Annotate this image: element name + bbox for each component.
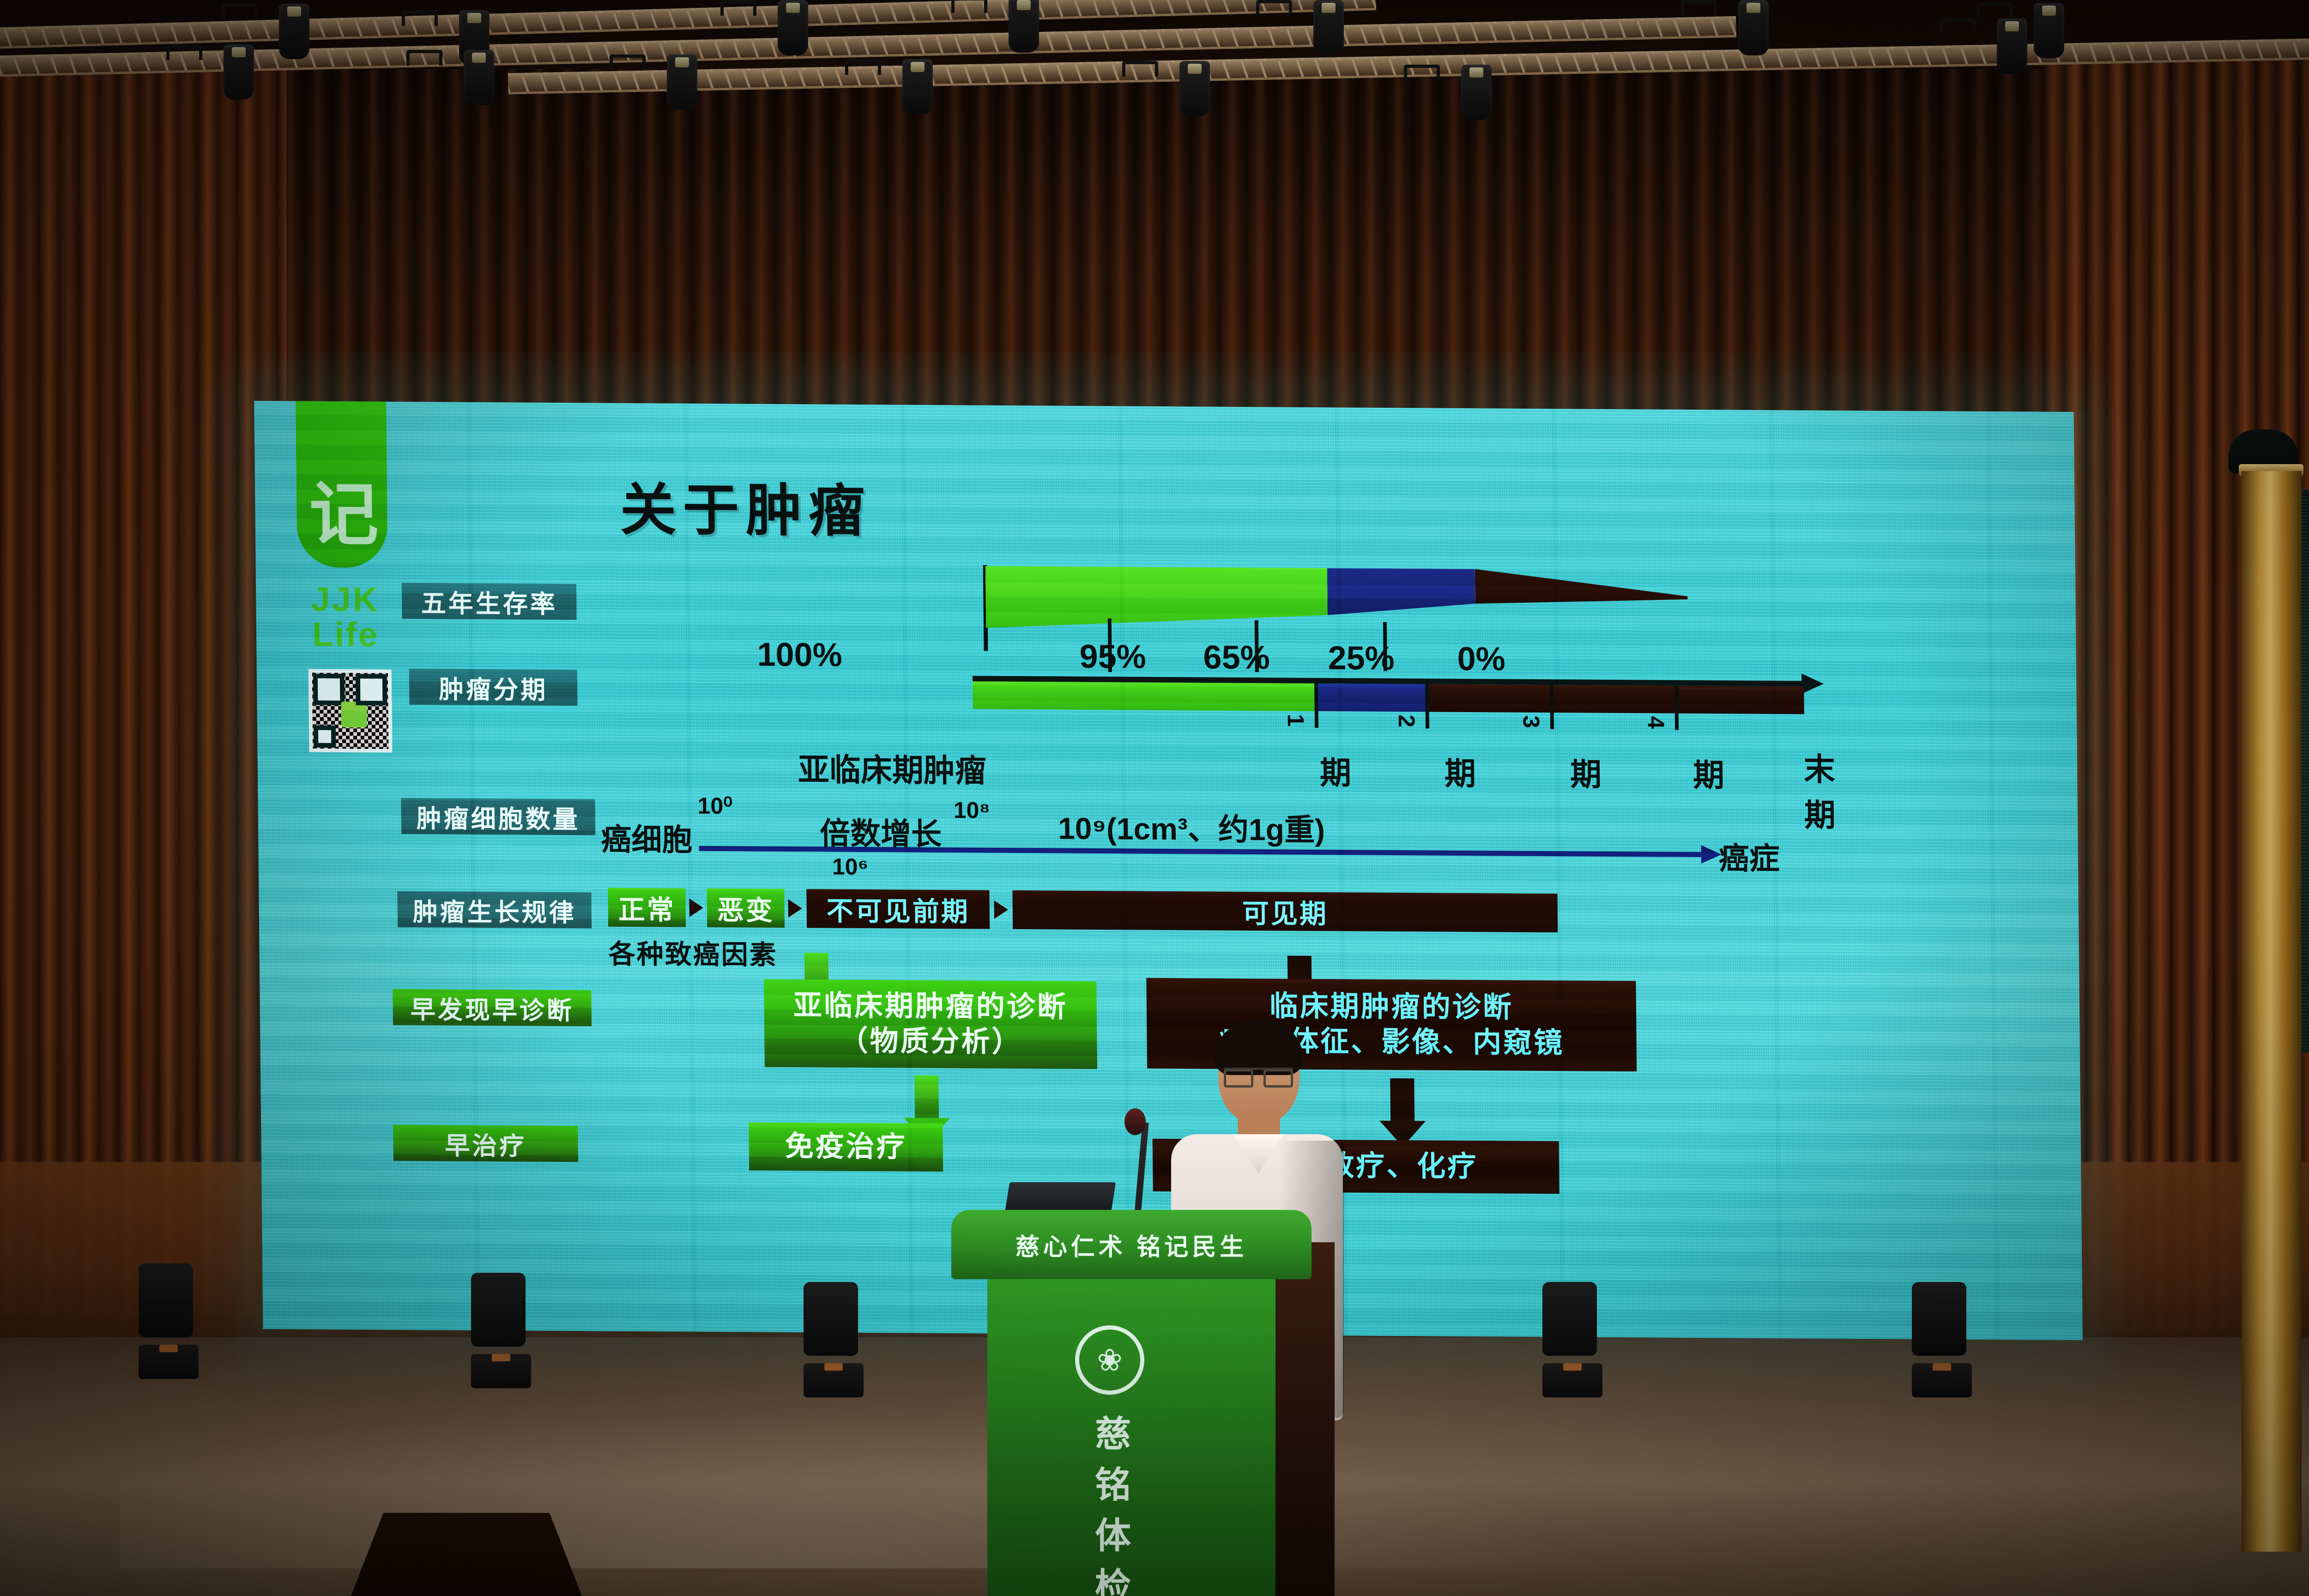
podium-logo-icon: ❀ (1075, 1325, 1144, 1395)
stage-light (166, 44, 202, 60)
growth-arrow-icon (788, 899, 802, 918)
stage-curtain-left (0, 69, 286, 1316)
stage-light (610, 54, 646, 70)
survival-percent: 100% (757, 636, 842, 674)
podium: 慈心仁术 铭记民生 ❀ 慈铭体检 (951, 1210, 1312, 1596)
moving-head-light (1912, 1282, 1972, 1397)
stage-light (222, 4, 258, 19)
auditorium-background: 记 JJK Life 关于肿瘤 五年生存率 (0, 0, 2309, 1596)
staging-segment-green (973, 681, 1318, 711)
moving-head-light (139, 1263, 199, 1379)
staging-segment-dark-2 (1553, 685, 1678, 713)
cell-count-exp-upper: 10⁸ (953, 797, 990, 823)
brand-logo-char: 记 (307, 480, 381, 550)
stage-light (951, 0, 987, 13)
brand-name-jjk: JJK (296, 581, 394, 618)
staging-tick (1550, 685, 1554, 729)
stage-light (1404, 65, 1440, 80)
stage-word: 期 (1570, 749, 1602, 794)
stage-word: 期 (1319, 747, 1351, 793)
stage-number: 2 (1393, 714, 1420, 727)
qr-code (308, 669, 393, 753)
stage-number: 1 (1282, 714, 1309, 727)
stage-word: 期 (1444, 748, 1476, 794)
stage-light (720, 0, 756, 16)
microphone-icon (1124, 1108, 1146, 1135)
stage-number: 4 (1643, 716, 1669, 729)
survival-percent: 65% (1203, 639, 1270, 677)
row-label-tumor-staging: 肿瘤分期 (409, 669, 578, 706)
survival-segment-dark (1475, 569, 1688, 632)
survival-segment-navy (1327, 568, 1475, 631)
treatment-early-box: 免疫治疗 (749, 1122, 943, 1172)
slide-title: 关于肿瘤 (619, 464, 871, 547)
speaker-hair (1215, 1021, 1303, 1075)
stage-light (406, 50, 442, 66)
cell-count-growth: 倍数增长 (820, 809, 942, 854)
staging-segment-navy (1318, 683, 1429, 712)
early-diagnosis-box: 亚临床期肿瘤的诊断 （物质分析） (764, 979, 1097, 1069)
moving-head-light (471, 1273, 531, 1388)
early-diagnosis-line1: 亚临床期肿瘤的诊断 (793, 988, 1068, 1025)
subclinical-label: 亚临床期肿瘤 (798, 744, 986, 791)
stage-light (845, 59, 881, 75)
survival-segment-green (985, 566, 1328, 630)
carcinogenic-factors-label: 各种致癌因素 (608, 932, 778, 972)
gold-column (2242, 471, 2302, 1552)
moving-head-light (1542, 1282, 1602, 1397)
survival-percent: 95% (1079, 638, 1146, 676)
stage-light (1256, 0, 1292, 16)
moving-head-light (804, 1282, 864, 1397)
staging-segment-dark-1 (1429, 684, 1553, 713)
stage-word: 期 (1693, 750, 1725, 795)
clinical-diagnosis-line1: 临床期肿瘤的诊断 (1269, 989, 1513, 1025)
stage-light (1940, 18, 1976, 34)
down-arrow-icon-treatment-late (1390, 1078, 1414, 1147)
stage-light (1122, 61, 1158, 77)
brand-name-life: Life (297, 617, 394, 653)
growth-arrow-icon (994, 901, 1008, 919)
stage-monitor-speaker (351, 1513, 582, 1596)
cell-count-volume: 10⁹(1cm³、约1g重) (1058, 804, 1325, 850)
survival-chart: 100% 95% 65% 25% 0% (768, 567, 1536, 691)
survival-triangle (985, 566, 1688, 632)
row-label-early-treatment: 早治疗 (393, 1125, 578, 1162)
growth-box-preclinical: 不可见前期 (806, 889, 990, 929)
survival-percent: 25% (1328, 639, 1395, 677)
growth-box-normal: 正常 (608, 888, 686, 927)
podium-motto: 慈心仁术 铭记民生 (1015, 1227, 1247, 1262)
row-label-growth-pattern: 肿瘤生长规律 (397, 891, 592, 929)
early-diagnosis-line2: （物质分析） (839, 1024, 1022, 1060)
cell-count-start: 癌细胞 (601, 815, 693, 860)
row-label-cell-count: 肿瘤细胞数量 (401, 798, 595, 835)
staging-tick (1674, 686, 1679, 730)
glasses-icon (1224, 1068, 1293, 1080)
survival-percent: 0% (1457, 640, 1505, 678)
cell-count-start-exp: 10⁰ (697, 792, 732, 819)
cell-count-exp-lower: 10⁶ (832, 853, 869, 880)
podium-brand: 慈铭体检 (1085, 1409, 1141, 1596)
stage-light (1977, 3, 2013, 18)
staging-tick (1425, 684, 1429, 728)
staging-tick (1314, 683, 1318, 728)
side-screen-scanlines (2302, 490, 2309, 1053)
growth-box-malignant: 恶变 (707, 889, 785, 928)
row-label-early-detection: 早发现早诊断 (393, 989, 592, 1027)
stage-light (402, 10, 438, 26)
growth-arrow-icon (689, 899, 703, 917)
cell-count-end: 癌症 (1718, 834, 1780, 878)
staging-segment-dark-3 (1677, 686, 1804, 714)
floor-reflection (120, 1411, 1604, 1568)
side-display-screen (2302, 490, 2309, 1053)
stage-number: 3 (1518, 715, 1545, 728)
staging-axis-arrow-icon (1801, 673, 1824, 694)
stage-light (1681, 0, 1717, 16)
growth-box-visible: 可见期 (1012, 890, 1558, 932)
row-label-survival-rate: 五年生存率 (402, 583, 577, 620)
cell-count-group: 癌细胞 10⁰ 倍数增长 10⁸ 10⁶ 10⁹(1cm³、约1g重) 癌症 (600, 786, 1848, 882)
podium-motto-panel: 慈心仁术 铭记民生 (951, 1210, 1312, 1279)
